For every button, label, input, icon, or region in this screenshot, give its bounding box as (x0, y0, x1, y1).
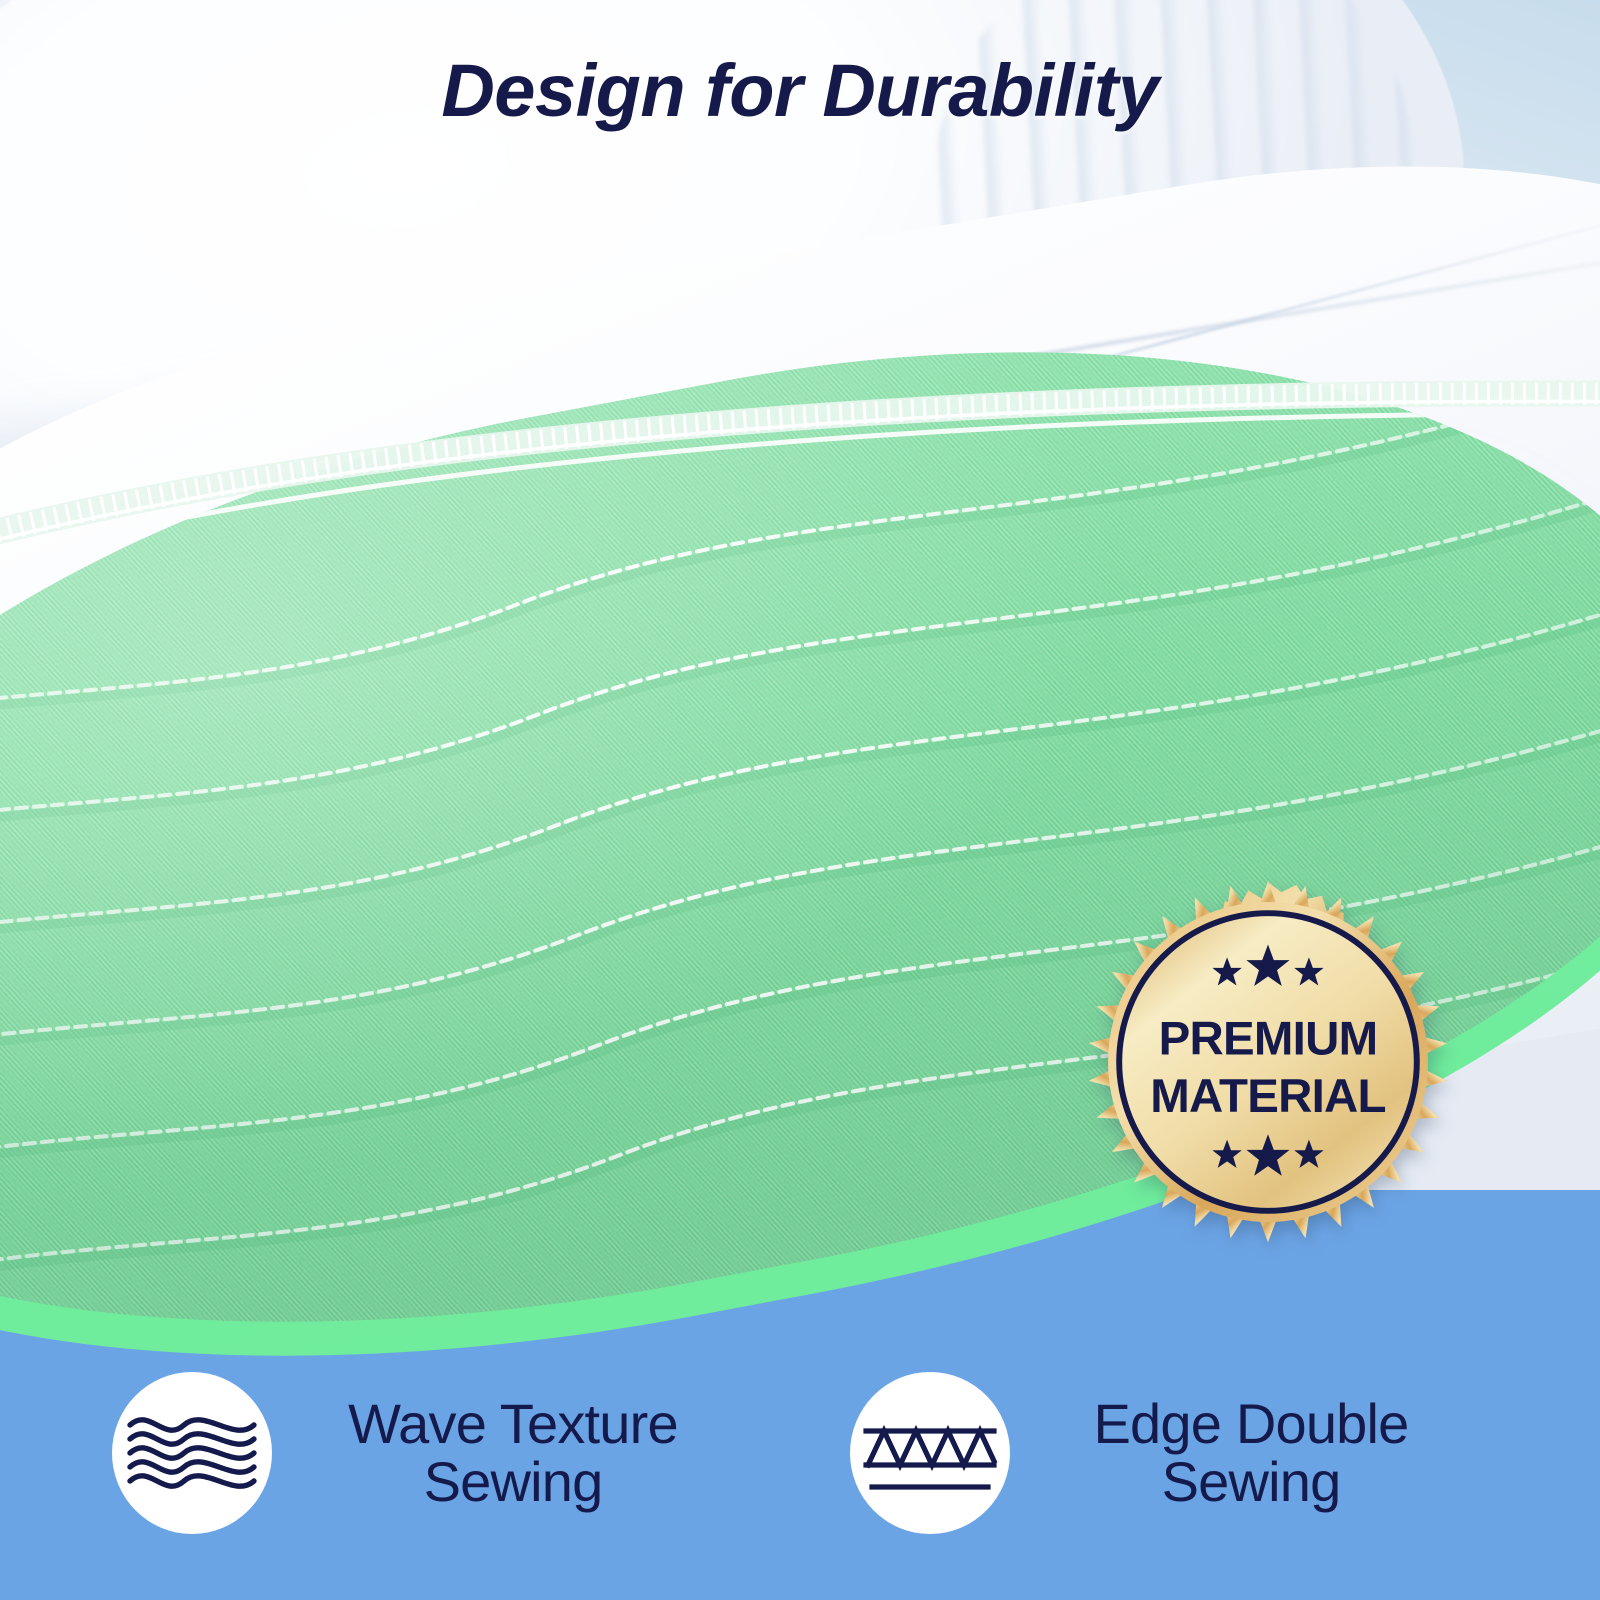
feature-edge-line2: Sewing (1036, 1453, 1466, 1511)
feature-wave-texture-sewing: Wave Texture Sewing (0, 1348, 800, 1558)
wave-texture-icon (122, 1407, 262, 1499)
badge-line1: PREMIUM (1159, 1013, 1378, 1066)
marketing-image: PREMIUM MATERIAL Design for Durability W (0, 0, 1600, 1600)
feature-wave-line2: Sewing (298, 1453, 728, 1511)
feature-edge-double-sewing: Edge Double Sewing (800, 1348, 1600, 1558)
feature-edge-line1: Edge Double (1093, 1392, 1408, 1455)
feature-wave-line1: Wave Texture (348, 1392, 678, 1455)
premium-material-badge: PREMIUM MATERIAL (1082, 876, 1454, 1248)
page-title: Design for Durability (0, 48, 1600, 133)
feature-label-wave: Wave Texture Sewing (298, 1395, 728, 1511)
feature-label-edge: Edge Double Sewing (1036, 1395, 1466, 1511)
wave-texture-icon-circle (112, 1372, 272, 1534)
badge-line2: MATERIAL (1150, 1070, 1386, 1123)
edge-double-stitch-icon-circle (850, 1372, 1010, 1534)
feature-list: Wave Texture Sewing Edge Double Sewing (0, 1348, 1600, 1558)
edge-double-stitch-icon (860, 1405, 1000, 1501)
